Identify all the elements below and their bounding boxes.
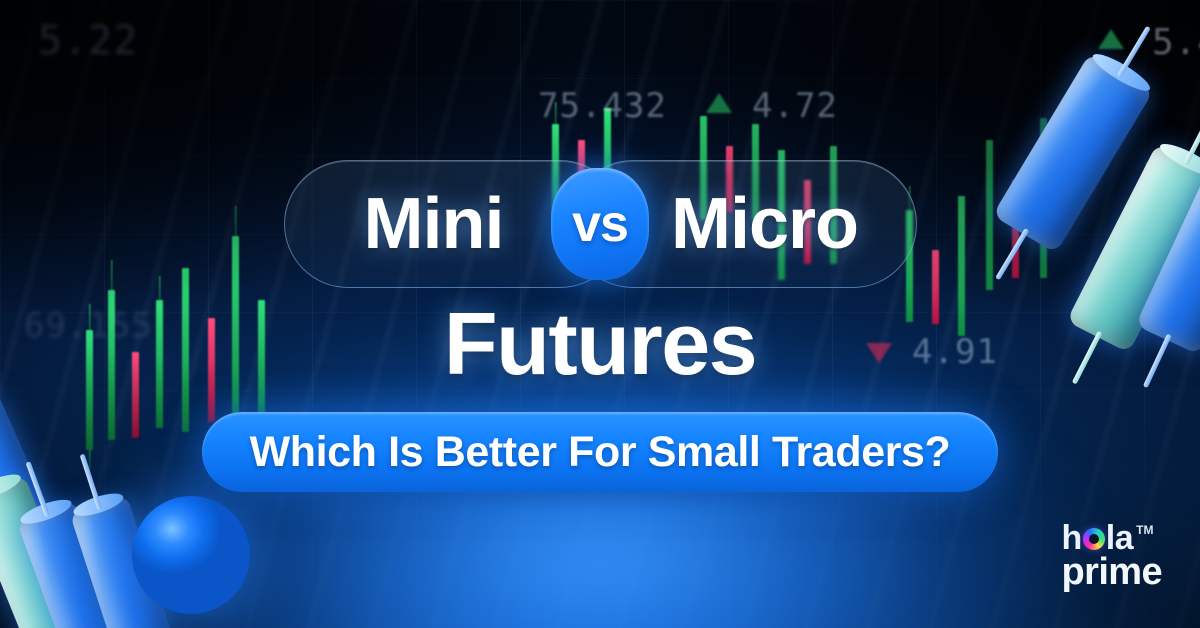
headline-row: Mini Micro vs [0,160,1200,288]
versus-label: vs [572,198,628,250]
brand-logo[interactable]: h la TM prime [1062,523,1162,590]
headline-right-label: Micro [671,188,858,260]
headline-pill-group: Mini Micro vs [284,160,917,288]
banner-canvas: 5.22 75.432 4.72 5.4 69.155 4.91 [0,0,1200,628]
versus-badge: vs [551,168,649,280]
banner-content: Mini Micro vs Futures Which Is Better Fo… [0,0,1200,628]
cta-label: Which Is Better For Small Traders? [250,431,951,474]
brand-logo-line-1: h la TM [1062,523,1162,554]
brand-logo-line-2: prime [1062,555,1162,590]
brand-logo-word: h la [1062,523,1134,554]
cta-button[interactable]: Which Is Better For Small Traders? [202,412,999,492]
trademark-mark: TM [1136,525,1153,536]
gradient-ring-icon [1083,528,1105,550]
headline-left-label: Mini [364,188,504,260]
headline-subject: Futures [0,300,1200,388]
brand-logo-la: la [1106,523,1133,554]
brand-logo-h: h [1062,523,1082,554]
cta-row: Which Is Better For Small Traders? [0,412,1200,492]
